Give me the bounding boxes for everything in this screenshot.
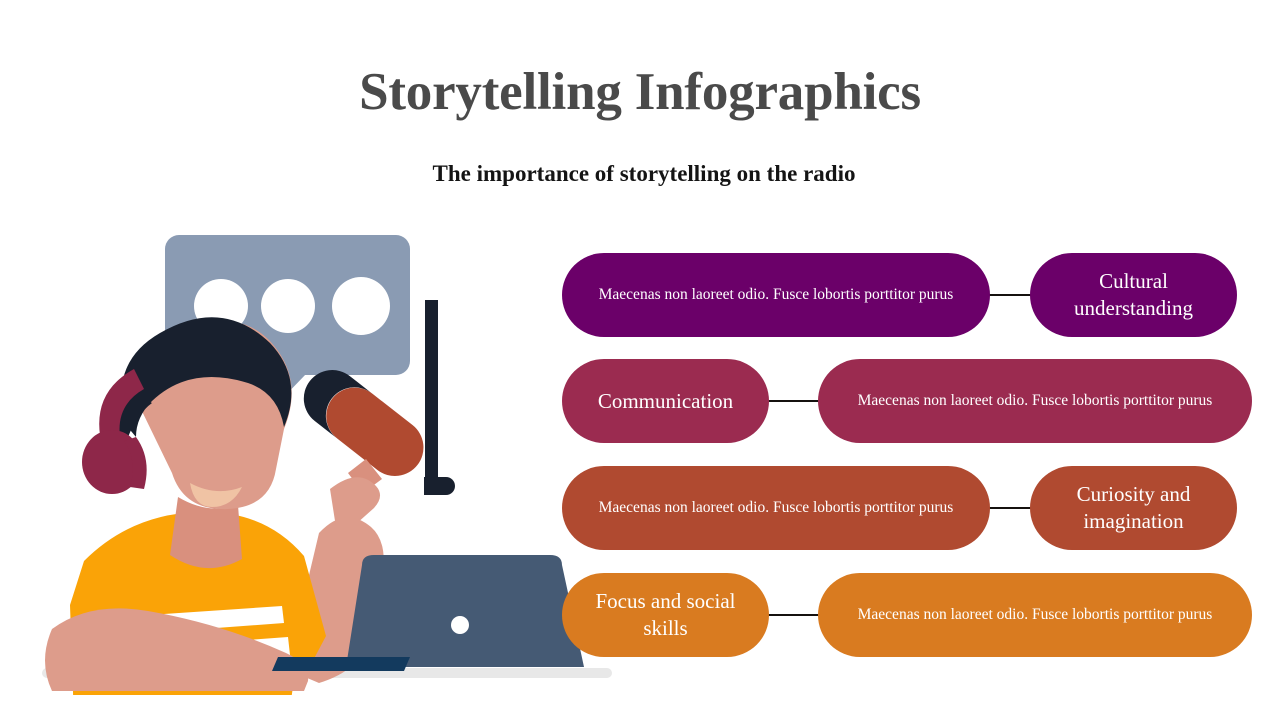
slide: Storytelling Infographics The importance… bbox=[0, 0, 1280, 720]
page-subtitle: The importance of storytelling on the ra… bbox=[0, 160, 1280, 188]
boom-arm bbox=[424, 300, 455, 495]
description-pill-row-3[interactable]: Maecenas non laoreet odio. Fusce loborti… bbox=[562, 466, 990, 550]
description-pill-row-2[interactable]: Maecenas non laoreet odio. Fusce loborti… bbox=[818, 359, 1252, 443]
connector-line-row-2 bbox=[765, 400, 822, 402]
description-pill-row-1[interactable]: Maecenas non laoreet odio. Fusce loborti… bbox=[562, 253, 990, 337]
person-head bbox=[82, 317, 292, 509]
headphone-icon bbox=[82, 369, 147, 494]
diagram-row-curiosity-imagination: Maecenas non laoreet odio. Fusce loborti… bbox=[562, 466, 1252, 550]
label-pill-communication[interactable]: Communication bbox=[562, 359, 769, 443]
connector-line-row-1 bbox=[986, 294, 1034, 296]
connector-line-row-3 bbox=[986, 507, 1034, 509]
label-pill-cultural-understanding[interactable]: Cultural understanding bbox=[1030, 253, 1237, 337]
storytelling-benefits-diagram: Maecenas non laoreet odio. Fusce loborti… bbox=[562, 253, 1252, 663]
diagram-row-communication: Communication Maecenas non laoreet odio.… bbox=[562, 359, 1252, 443]
diagram-row-cultural-understanding: Maecenas non laoreet odio. Fusce loborti… bbox=[562, 253, 1252, 337]
label-pill-curiosity-imagination[interactable]: Curiosity and imagination bbox=[1030, 466, 1237, 550]
description-pill-row-4[interactable]: Maecenas non laoreet odio. Fusce loborti… bbox=[818, 573, 1252, 657]
label-pill-focus-social-skills[interactable]: Focus and social skills bbox=[562, 573, 769, 657]
diagram-row-focus-social-skills: Focus and social skills Maecenas non lao… bbox=[562, 573, 1252, 657]
page-title: Storytelling Infographics bbox=[0, 63, 1280, 121]
connector-line-row-4 bbox=[765, 614, 822, 616]
radio-podcast-host-illustration bbox=[30, 225, 630, 695]
